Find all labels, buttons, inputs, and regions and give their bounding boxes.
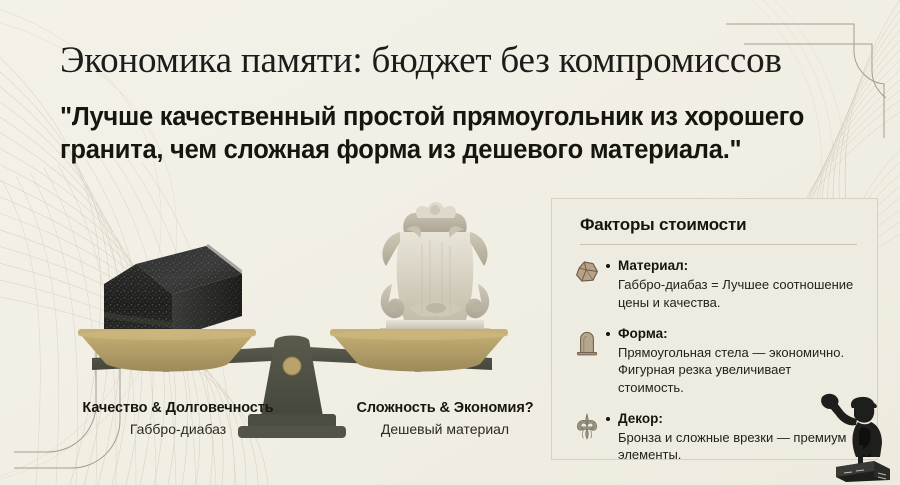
balance-right-heading: Сложность & Экономия? <box>330 400 560 416</box>
page-title: Экономика памяти: бюджет без компромиссо… <box>60 40 850 81</box>
factor-content: Форма: Прямоугольная стела — экономично.… <box>604 325 857 396</box>
factors-list: Материал: Габбро-диабаз = Лучшее соотнош… <box>570 257 857 464</box>
balance-right-caption: Сложность & Экономия? Дешевый материал <box>330 400 560 437</box>
header: Экономика памяти: бюджет без компромиссо… <box>60 40 850 166</box>
balance-left-caption: Качество & Долговечность Габбро-диабаз <box>52 400 304 437</box>
list-item: Декор: Бронза и сложные врезки — премиум… <box>570 410 857 464</box>
panel-divider <box>580 244 857 245</box>
stonemason-icon <box>816 387 894 483</box>
balance-scale-illustration: Качество & Долговечность Габбро-диабаз С… <box>42 188 542 480</box>
balance-left-subtext: Габбро-диабаз <box>52 421 304 437</box>
balance-right-subtext: Дешевый материал <box>330 421 560 437</box>
panel-title: Факторы стоимости <box>580 215 857 235</box>
list-item: Форма: Прямоугольная стела — экономично.… <box>570 325 857 396</box>
factor-description: Габбро-диабаз = Лучшее соотношение цены … <box>606 276 857 311</box>
balance-left-heading: Качество & Долговечность <box>52 400 304 416</box>
slide-canvas: Экономика памяти: бюджет без компромиссо… <box>0 0 900 485</box>
quote-text: "Лучше качественный простой прямоугольни… <box>60 101 850 165</box>
rock-icon <box>570 257 604 299</box>
fleur-de-lis-icon <box>570 410 604 452</box>
factor-label: Декор: <box>606 411 663 426</box>
factor-content: Материал: Габбро-диабаз = Лучшее соотнош… <box>604 257 857 311</box>
list-item: Материал: Габбро-диабаз = Лучшее соотнош… <box>570 257 857 311</box>
tombstone-icon <box>570 325 604 367</box>
factor-label: Материал: <box>606 258 688 273</box>
factor-label: Форма: <box>606 326 668 341</box>
